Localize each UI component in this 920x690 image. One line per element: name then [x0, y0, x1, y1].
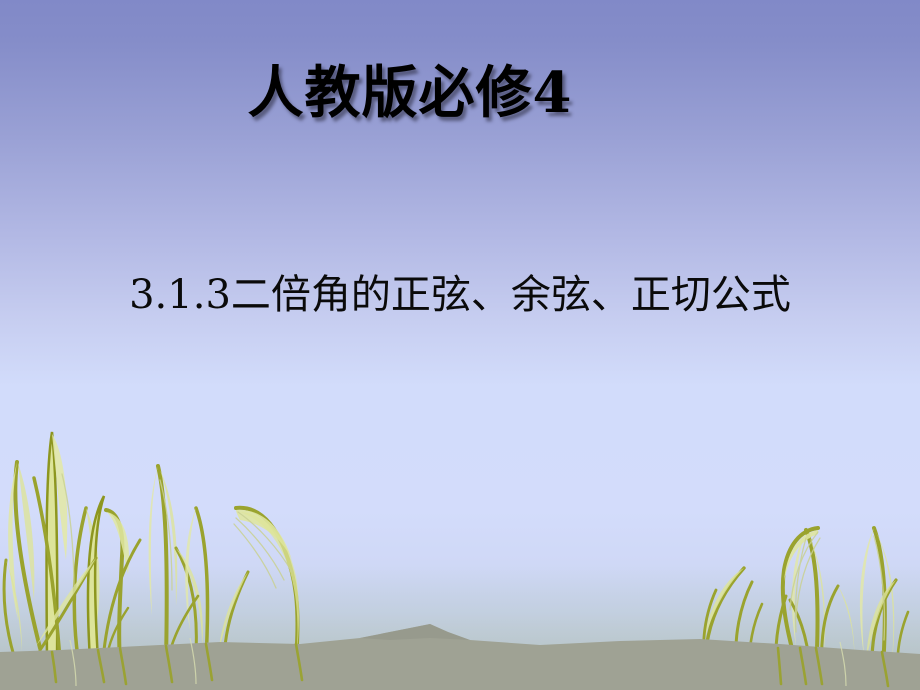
slide-title-container: 人教版必修4 — [0, 62, 920, 125]
slide-subtitle-container: 3.1.3二倍角的正弦、余弦、正切公式 — [0, 272, 920, 318]
page-title: 人教版必修4 — [248, 62, 573, 125]
slide-subtitle: 3.1.3二倍角的正弦、余弦、正切公式 — [129, 272, 791, 318]
presentation-slide: 人教版必修4 3.1.3二倍角的正弦、余弦、正切公式 — [0, 0, 920, 690]
